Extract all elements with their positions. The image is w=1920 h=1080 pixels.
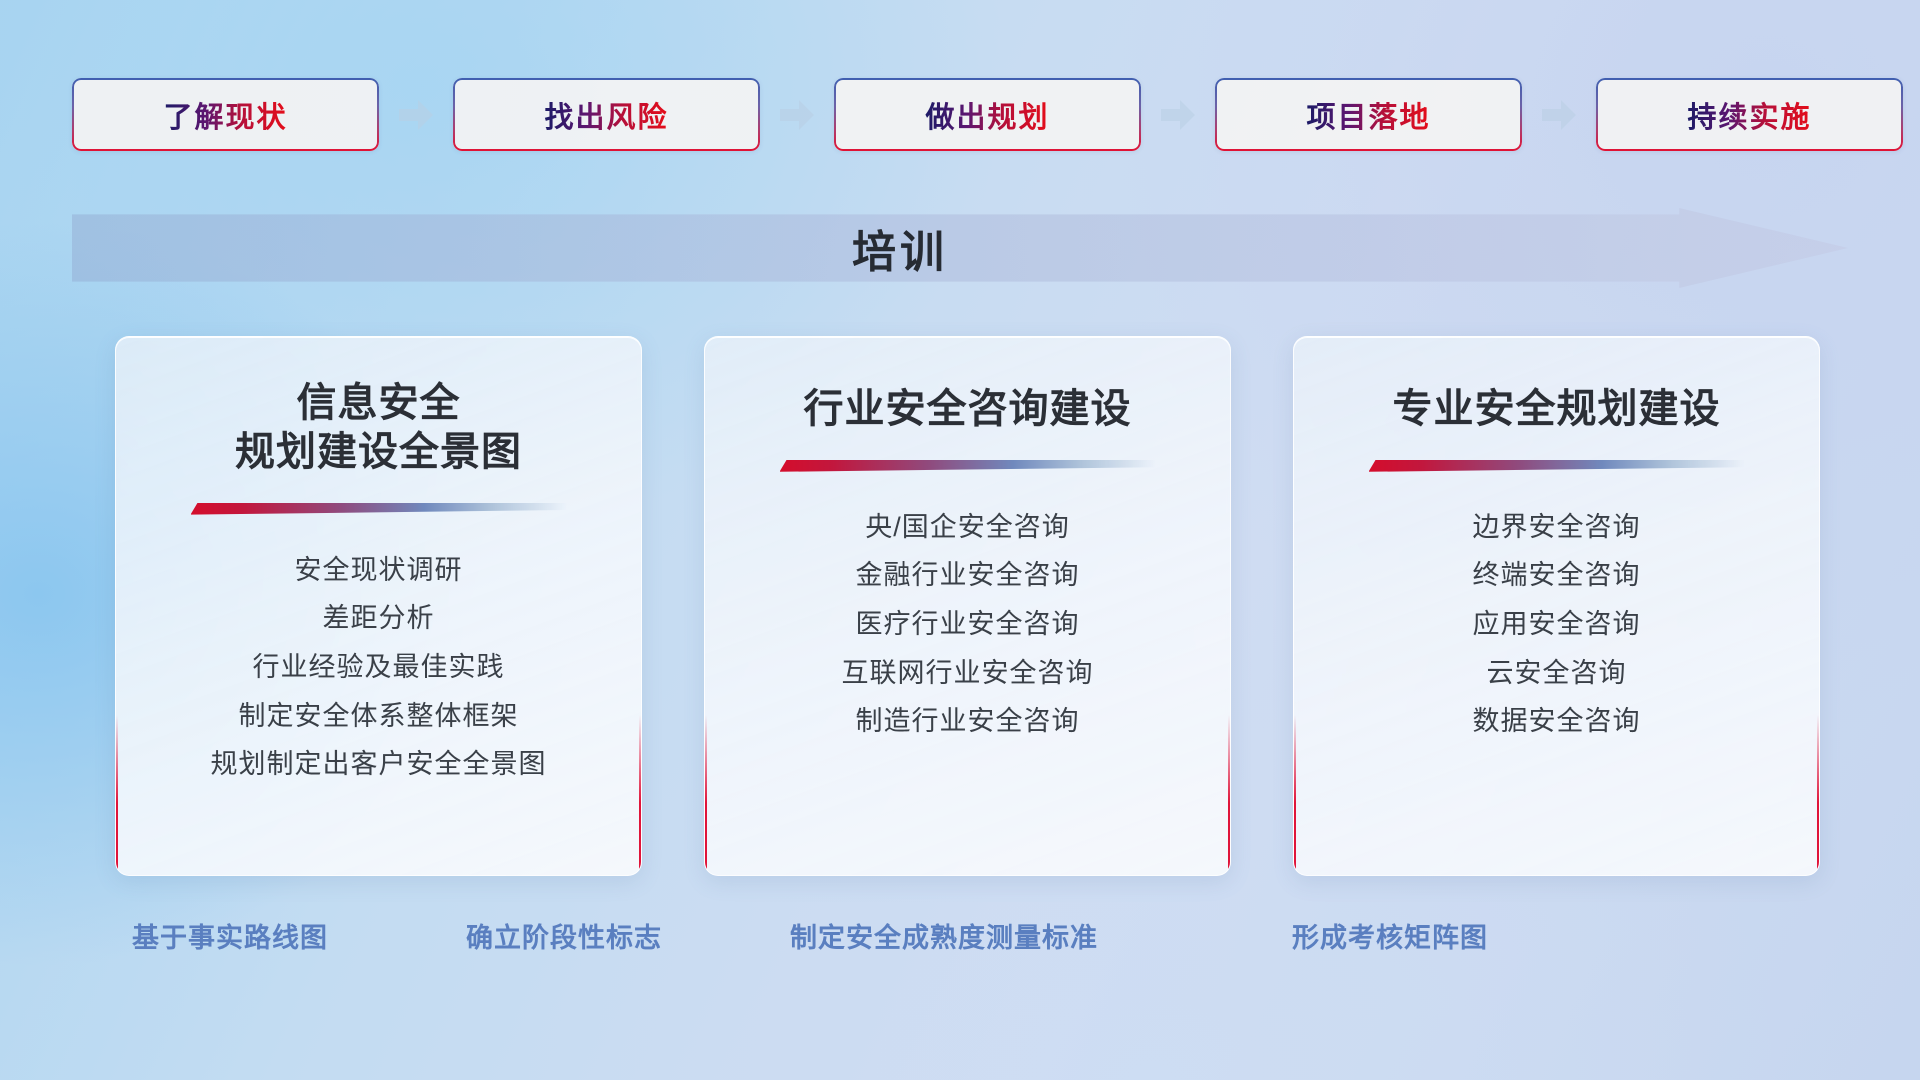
caption-matrix: 形成考核矩阵图	[1292, 916, 1488, 955]
card-list: 安全现状调研 差距分析 行业经验及最佳实践 制定安全体系整体框架 规划制定出客户…	[116, 549, 641, 786]
list-item: 制造行业安全咨询	[856, 700, 1080, 743]
banner-title: 培训	[852, 216, 948, 280]
slide-canvas: 了解现状 找出风险 做出规划 项目落地 持续实施 培训	[0, 0, 1920, 1080]
caption-row: 基于事实路线图 确立阶段性标志 制定安全成熟度测量标准 形成考核矩阵图	[0, 916, 1920, 966]
process-step-3[interactable]: 做出规划	[834, 78, 1141, 151]
list-item: 行业经验及最佳实践	[253, 646, 505, 689]
card-title: 行业安全咨询建设	[804, 385, 1132, 434]
list-item: 边界安全咨询	[1473, 506, 1641, 549]
list-item: 终端安全咨询	[1473, 554, 1641, 597]
right-arrow-icon	[1161, 100, 1195, 130]
process-step-4[interactable]: 项目落地	[1215, 78, 1522, 151]
list-item: 央/国企安全咨询	[865, 506, 1070, 549]
card-list: 央/国企安全咨询 金融行业安全咨询 医疗行业安全咨询 互联网行业安全咨询 制造行…	[705, 506, 1230, 743]
card-row: 信息安全 规划建设全景图 安全现状调研 差距分析 行业经验及最佳实践 制定安全体…	[0, 336, 1920, 876]
list-item: 规划制定出客户安全全景图	[211, 743, 547, 786]
card-title: 专业安全规划建设	[1393, 385, 1721, 434]
card-industry-consulting[interactable]: 行业安全咨询建设 央/国企安全咨询 金融行业安全咨询 医疗行业安全咨询 互联网行…	[704, 336, 1231, 876]
card-divider	[191, 503, 567, 515]
process-step-label: 找出风险	[544, 94, 668, 136]
process-step-5[interactable]: 持续实施	[1596, 78, 1903, 151]
list-item: 应用安全咨询	[1473, 603, 1641, 646]
list-item: 制定安全体系整体框架	[239, 695, 519, 738]
card-divider	[780, 460, 1156, 472]
card-divider	[1369, 460, 1745, 472]
right-arrow-icon	[780, 100, 814, 130]
process-step-label: 项目落地	[1306, 94, 1430, 136]
banner-arrow-shape	[72, 208, 1848, 288]
process-step-1[interactable]: 了解现状	[72, 78, 379, 151]
right-arrow-icon	[1542, 100, 1576, 130]
caption-milestones: 确立阶段性标志	[466, 916, 662, 955]
process-step-2[interactable]: 找出风险	[453, 78, 760, 151]
card-information-security[interactable]: 信息安全 规划建设全景图 安全现状调研 差距分析 行业经验及最佳实践 制定安全体…	[115, 336, 642, 876]
process-step-row: 了解现状 找出风险 做出规划 项目落地 持续实施	[0, 78, 1920, 151]
list-item: 安全现状调研	[295, 549, 463, 592]
list-item: 数据安全咨询	[1473, 700, 1641, 743]
list-item: 互联网行业安全咨询	[842, 652, 1094, 695]
right-arrow-icon	[399, 100, 433, 130]
list-item: 云安全咨询	[1487, 652, 1627, 695]
process-step-label: 持续实施	[1687, 94, 1811, 136]
card-list: 边界安全咨询 终端安全咨询 应用安全咨询 云安全咨询 数据安全咨询	[1294, 506, 1819, 743]
card-professional-planning[interactable]: 专业安全规划建设 边界安全咨询 终端安全咨询 应用安全咨询 云安全咨询 数据安全…	[1293, 336, 1820, 876]
list-item: 医疗行业安全咨询	[856, 603, 1080, 646]
list-item: 差距分析	[323, 597, 435, 640]
caption-roadmap: 基于事实路线图	[132, 916, 328, 955]
list-item: 金融行业安全咨询	[856, 554, 1080, 597]
caption-maturity-scale: 制定安全成熟度测量标准	[790, 916, 1098, 955]
process-step-label: 做出规划	[925, 94, 1049, 136]
process-step-label: 了解现状	[163, 94, 287, 136]
card-title: 信息安全 规划建设全景图	[235, 379, 522, 477]
training-banner: 培训	[72, 208, 1848, 288]
